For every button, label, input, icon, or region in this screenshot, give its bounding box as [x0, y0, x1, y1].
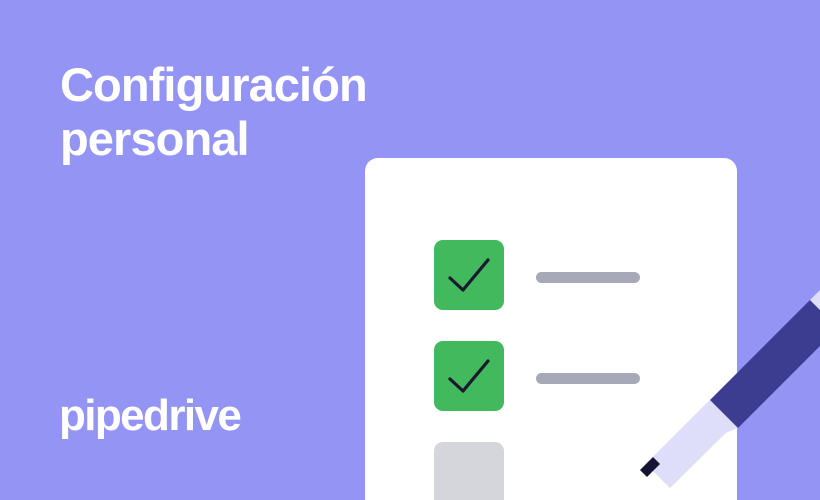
checklist-card [365, 158, 737, 500]
promo-banner: Configuración personal pipedrive [0, 0, 820, 500]
checkbox-checked[interactable] [434, 341, 504, 411]
page-title: Configuración personal [60, 58, 400, 166]
pipedrive-logo: pipedrive [59, 391, 240, 441]
check-icon [434, 240, 504, 310]
checkbox-unchecked[interactable] [434, 442, 504, 500]
placeholder-line [536, 373, 640, 384]
checkbox-checked[interactable] [434, 240, 504, 310]
check-icon [434, 341, 504, 411]
placeholder-line [536, 272, 640, 283]
